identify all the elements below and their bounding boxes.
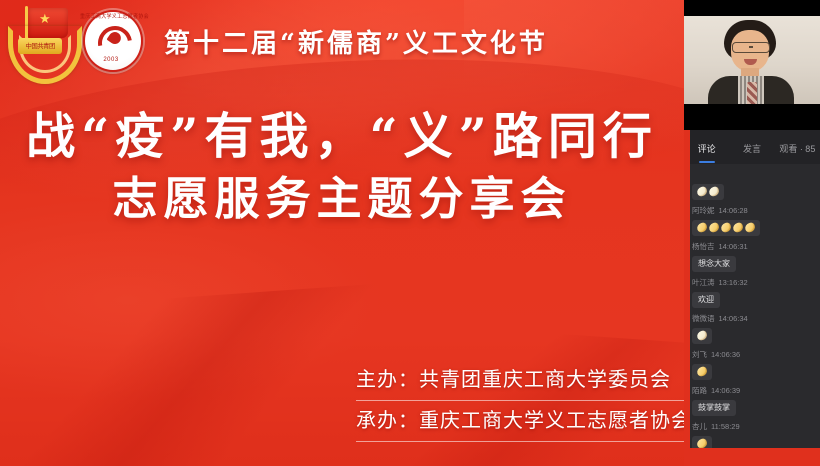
comment-meta xyxy=(692,169,812,181)
headline-line-2: 志愿服务主题分享会 xyxy=(0,168,684,230)
comment-meta: 微微语14:06:34 xyxy=(692,313,812,325)
emblem-band: 中国共青团 xyxy=(18,38,62,54)
sidebar-tabs: 评论 发言 观看 · 85 xyxy=(684,130,820,164)
tab-viewers[interactable]: 观看 · 85 xyxy=(775,140,820,155)
slide-credits: 主办：共青团重庆工商大学委员会 承办：重庆工商大学义工志愿者协会 xyxy=(356,360,684,442)
comment-author: 杏儿 xyxy=(692,422,707,431)
live-stream-window: ★ 中国共青团 重庆工商大学义工志愿者协会 2003 第十二届“新儒商”义工文化… xyxy=(0,0,820,466)
presentation-slide: ★ 中国共青团 重庆工商大学义工志愿者协会 2003 第十二届“新儒商”义工文化… xyxy=(0,0,684,466)
glasses-icon xyxy=(732,42,770,53)
university-volunteer-association-logo-icon: 重庆工商大学义工志愿者协会 2003 xyxy=(80,7,142,75)
comment-timestamp: 14:06:31 xyxy=(719,242,748,251)
comment-timestamp: 14:06:36 xyxy=(711,350,740,359)
logo-year: 2003 xyxy=(80,57,142,63)
speaker-video-feed[interactable] xyxy=(684,0,820,130)
emoji-icon xyxy=(708,222,720,234)
slide-header: ★ 中国共青团 重庆工商大学义工志愿者协会 2003 第十二届“新儒商”义工文化… xyxy=(0,0,684,82)
comment-author: 叶江涛 xyxy=(692,278,715,287)
wheat-wreath-icon xyxy=(8,26,82,84)
emoji-icon xyxy=(696,438,708,448)
star-icon: ★ xyxy=(39,12,51,25)
comment-author: 阿玲妮 xyxy=(692,206,715,215)
comment-meta: 阿玲妮14:06:28 xyxy=(692,205,812,217)
video-frame xyxy=(684,16,820,104)
emoji-icon xyxy=(696,366,708,378)
comment-author: 陌路 xyxy=(692,386,707,395)
comment-author: 杨怡吉 xyxy=(692,242,715,251)
comment-item: 叶江涛13:16:32欢迎 xyxy=(684,274,820,310)
portrait-tie xyxy=(747,82,757,104)
emoji-icon xyxy=(744,222,756,234)
credit-divider-2 xyxy=(356,441,684,442)
comment-item: 杨怡吉14:06:31想念大家 xyxy=(684,238,820,274)
logo-arc-text: 重庆工商大学义工志愿者协会 xyxy=(80,13,142,21)
credit-host: 承办：重庆工商大学义工志愿者协会 xyxy=(356,401,684,441)
communist-youth-league-emblem-icon: ★ 中国共青团 xyxy=(6,4,74,78)
comment-bubble: 想念大家 xyxy=(692,256,736,272)
emoji-icon xyxy=(732,222,744,234)
emoji-icon xyxy=(720,222,732,234)
comment-meta: 杨怡吉14:06:31 xyxy=(692,241,812,253)
red-seam xyxy=(684,130,690,466)
live-sidebar: 评论 发言 观看 · 85 阿玲妮14:06:28杨怡吉14:06:31想念大家… xyxy=(684,0,820,466)
comment-meta: 刘飞14:06:36 xyxy=(692,349,812,361)
comment-bubble xyxy=(692,364,712,380)
comment-bubble: 欢迎 xyxy=(692,292,720,308)
comment-meta: 陌路14:06:39 xyxy=(692,385,812,397)
comment-timestamp: 14:06:34 xyxy=(719,314,748,323)
comment-item: 陌路14:06:39鼓掌鼓掌 xyxy=(684,382,820,418)
emoji-icon xyxy=(696,222,708,234)
credit-organizer: 主办：共青团重庆工商大学委员会 xyxy=(356,360,684,400)
comment-timestamp: 14:06:39 xyxy=(711,386,740,395)
comment-author: 刘飞 xyxy=(692,350,707,359)
comment-bubble xyxy=(692,436,712,448)
festival-title: 第十二届“新儒商”义工文化节 xyxy=(164,23,548,60)
comment-timestamp: 11:58:29 xyxy=(711,422,740,431)
comment-item: 杏儿11:58:29 xyxy=(684,418,820,448)
comment-author: 微微语 xyxy=(692,314,715,323)
comment-list[interactable]: 阿玲妮14:06:28杨怡吉14:06:31想念大家叶江涛13:16:32欢迎微… xyxy=(684,164,820,448)
comment-timestamp: 13:16:32 xyxy=(719,278,748,287)
comment-timestamp: 14:06:28 xyxy=(719,206,748,215)
emoji-icon xyxy=(708,186,720,198)
comment-bubble xyxy=(692,220,760,236)
comment-item xyxy=(684,166,820,202)
emblem-group: ★ 中国共青团 重庆工商大学义工志愿者协会 2003 xyxy=(6,4,142,78)
tab-speak[interactable]: 发言 xyxy=(729,140,774,155)
slide-headline: 战“疫”有我，“义”路同行 志愿服务主题分享会 xyxy=(0,104,684,230)
comment-item: 刘飞14:06:36 xyxy=(684,346,820,382)
tab-comments[interactable]: 评论 xyxy=(684,140,729,155)
comment-meta: 叶江涛13:16:32 xyxy=(692,277,812,289)
headline-line-1: 战“疫”有我，“义”路同行 xyxy=(0,104,684,168)
comment-meta: 杏儿11:58:29 xyxy=(692,421,812,433)
comment-bubble: 鼓掌鼓掌 xyxy=(692,400,736,416)
background-ribbon-7 xyxy=(0,200,380,400)
comment-item: 阿玲妮14:06:28 xyxy=(684,202,820,238)
comment-bubble xyxy=(692,184,724,200)
comment-bubble xyxy=(692,328,712,344)
emoji-icon xyxy=(696,186,708,198)
comment-item: 微微语14:06:34 xyxy=(684,310,820,346)
emblem-band-text: 中国共青团 xyxy=(25,42,54,51)
sidebar-footer-bar xyxy=(684,448,820,466)
emoji-icon xyxy=(696,330,708,342)
